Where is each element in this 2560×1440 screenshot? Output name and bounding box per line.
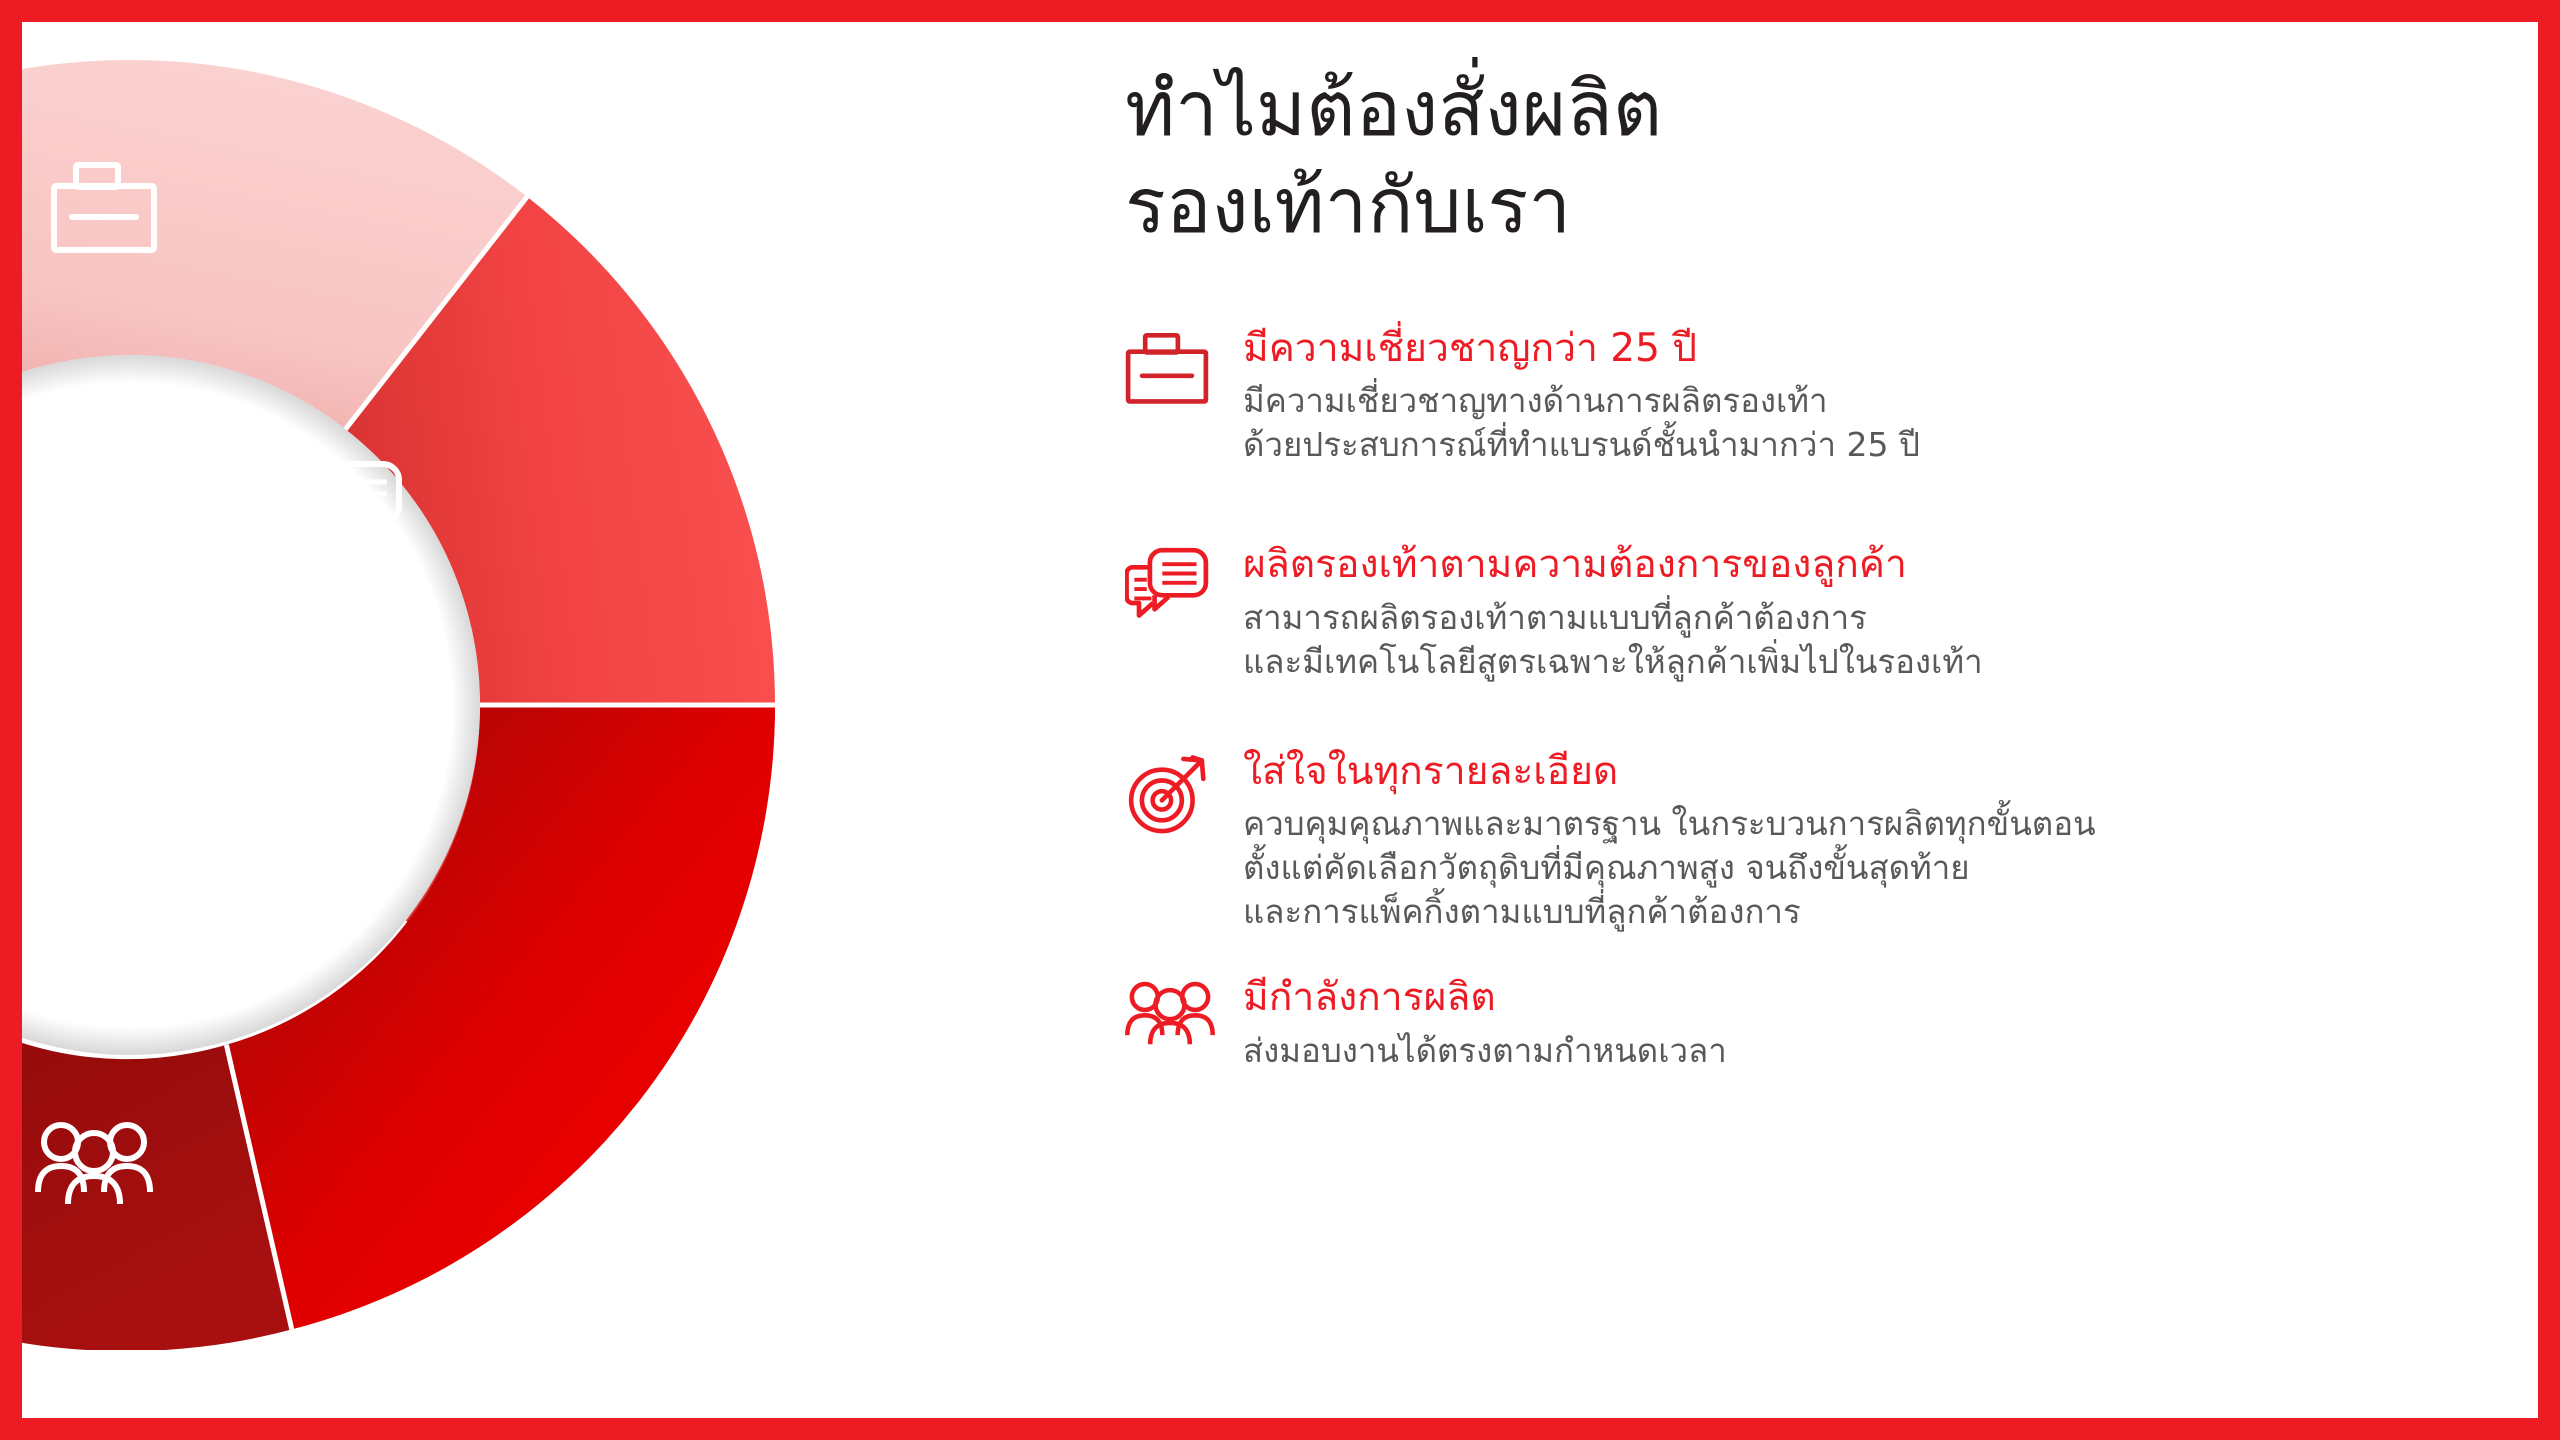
briefcase-icon xyxy=(1125,325,1243,405)
feature-body: มีความเชี่ยวชาญกว่า 25 ปี มีความเชี่ยวชา… xyxy=(1243,325,2485,468)
feature-line: สามารถผลิตรองเท้าตามแบบที่ลูกค้าต้องการ xyxy=(1243,596,2485,640)
feature-line: และมีเทคโนโลยีสูตรเฉพาะให้ลูกค้าเพิ่มไปใ… xyxy=(1243,640,2485,684)
feature-description: สามารถผลิตรองเท้าตามแบบที่ลูกค้าต้องการ … xyxy=(1243,596,2485,684)
feature-line: และการแพ็คกิ้งตามแบบที่ลูกค้าต้องการ xyxy=(1243,890,2485,934)
feature-line: ด้วยประสบการณ์ที่ทำแบรนด์ชั้นนำมากว่า 25… xyxy=(1243,423,2485,467)
feature-title: มีกำลังการผลิต xyxy=(1243,974,2485,1023)
people-group-icon xyxy=(1125,974,1243,1046)
feature-line: ควบคุมคุณภาพและมาตรฐาน ในกระบวนการผลิตทุ… xyxy=(1243,802,2485,846)
feature-item-experience: มีความเชี่ยวชาญกว่า 25 ปี มีความเชี่ยวชา… xyxy=(1125,325,2485,468)
donut-chart xyxy=(0,60,775,1350)
chat-bubbles-icon xyxy=(1125,541,1243,628)
feature-description: ส่งมอบงานได้ตรงตามกำหนดเวลา xyxy=(1243,1029,2485,1073)
feature-item-production-capacity: มีกำลังการผลิต ส่งมอบงานได้ตรงตามกำหนดเว… xyxy=(1125,974,2485,1073)
frame-border-left xyxy=(0,0,22,1440)
feature-line: ส่งมอบงานได้ตรงตามกำหนดเวลา xyxy=(1243,1029,2485,1073)
feature-item-attention-to-detail: ใส่ใจในทุกรายละเอียด ควบคุมคุณภาพและมาตร… xyxy=(1125,748,2485,934)
target-arrow-icon xyxy=(1125,748,1243,836)
feature-title: ใส่ใจในทุกรายละเอียด xyxy=(1243,748,2485,797)
feature-item-custom-production: ผลิตรองเท้าตามความต้องการของลูกค้า สามาร… xyxy=(1125,541,2485,684)
feature-description: มีความเชี่ยวชาญทางด้านการผลิตรองเท้า ด้ว… xyxy=(1243,379,2485,467)
feature-line: ตั้งแต่คัดเลือกวัตถุดิบที่มีคุณภาพสูง จน… xyxy=(1243,846,2485,890)
frame-border-bottom xyxy=(0,1418,2560,1440)
feature-description: ควบคุมคุณภาพและมาตรฐาน ในกระบวนการผลิตทุ… xyxy=(1243,802,2485,934)
slide-canvas: ทำไมต้องสั่งผลิต รองเท้ากับเรา มีความเชี… xyxy=(0,0,2560,1440)
feature-body: ใส่ใจในทุกรายละเอียด ควบคุมคุณภาพและมาตร… xyxy=(1243,748,2485,934)
page-title: ทำไมต้องสั่งผลิต รองเท้ากับเรา xyxy=(1125,40,2485,255)
content-column: ทำไมต้องสั่งผลิต รองเท้ากับเรา มีความเชี… xyxy=(1125,40,2485,1073)
feature-title: มีความเชี่ยวชาญกว่า 25 ปี xyxy=(1243,325,2485,374)
frame-border-top xyxy=(0,0,2560,22)
feature-body: มีกำลังการผลิต ส่งมอบงานได้ตรงตามกำหนดเว… xyxy=(1243,974,2485,1073)
feature-list: มีความเชี่ยวชาญกว่า 25 ปี มีความเชี่ยวชา… xyxy=(1125,325,2485,1073)
feature-body: ผลิตรองเท้าตามความต้องการของลูกค้า สามาร… xyxy=(1243,541,2485,684)
feature-title: ผลิตรองเท้าตามความต้องการของลูกค้า xyxy=(1243,541,2485,590)
feature-line: มีความเชี่ยวชาญทางด้านการผลิตรองเท้า xyxy=(1243,379,2485,423)
frame-border-right xyxy=(2538,0,2560,1440)
